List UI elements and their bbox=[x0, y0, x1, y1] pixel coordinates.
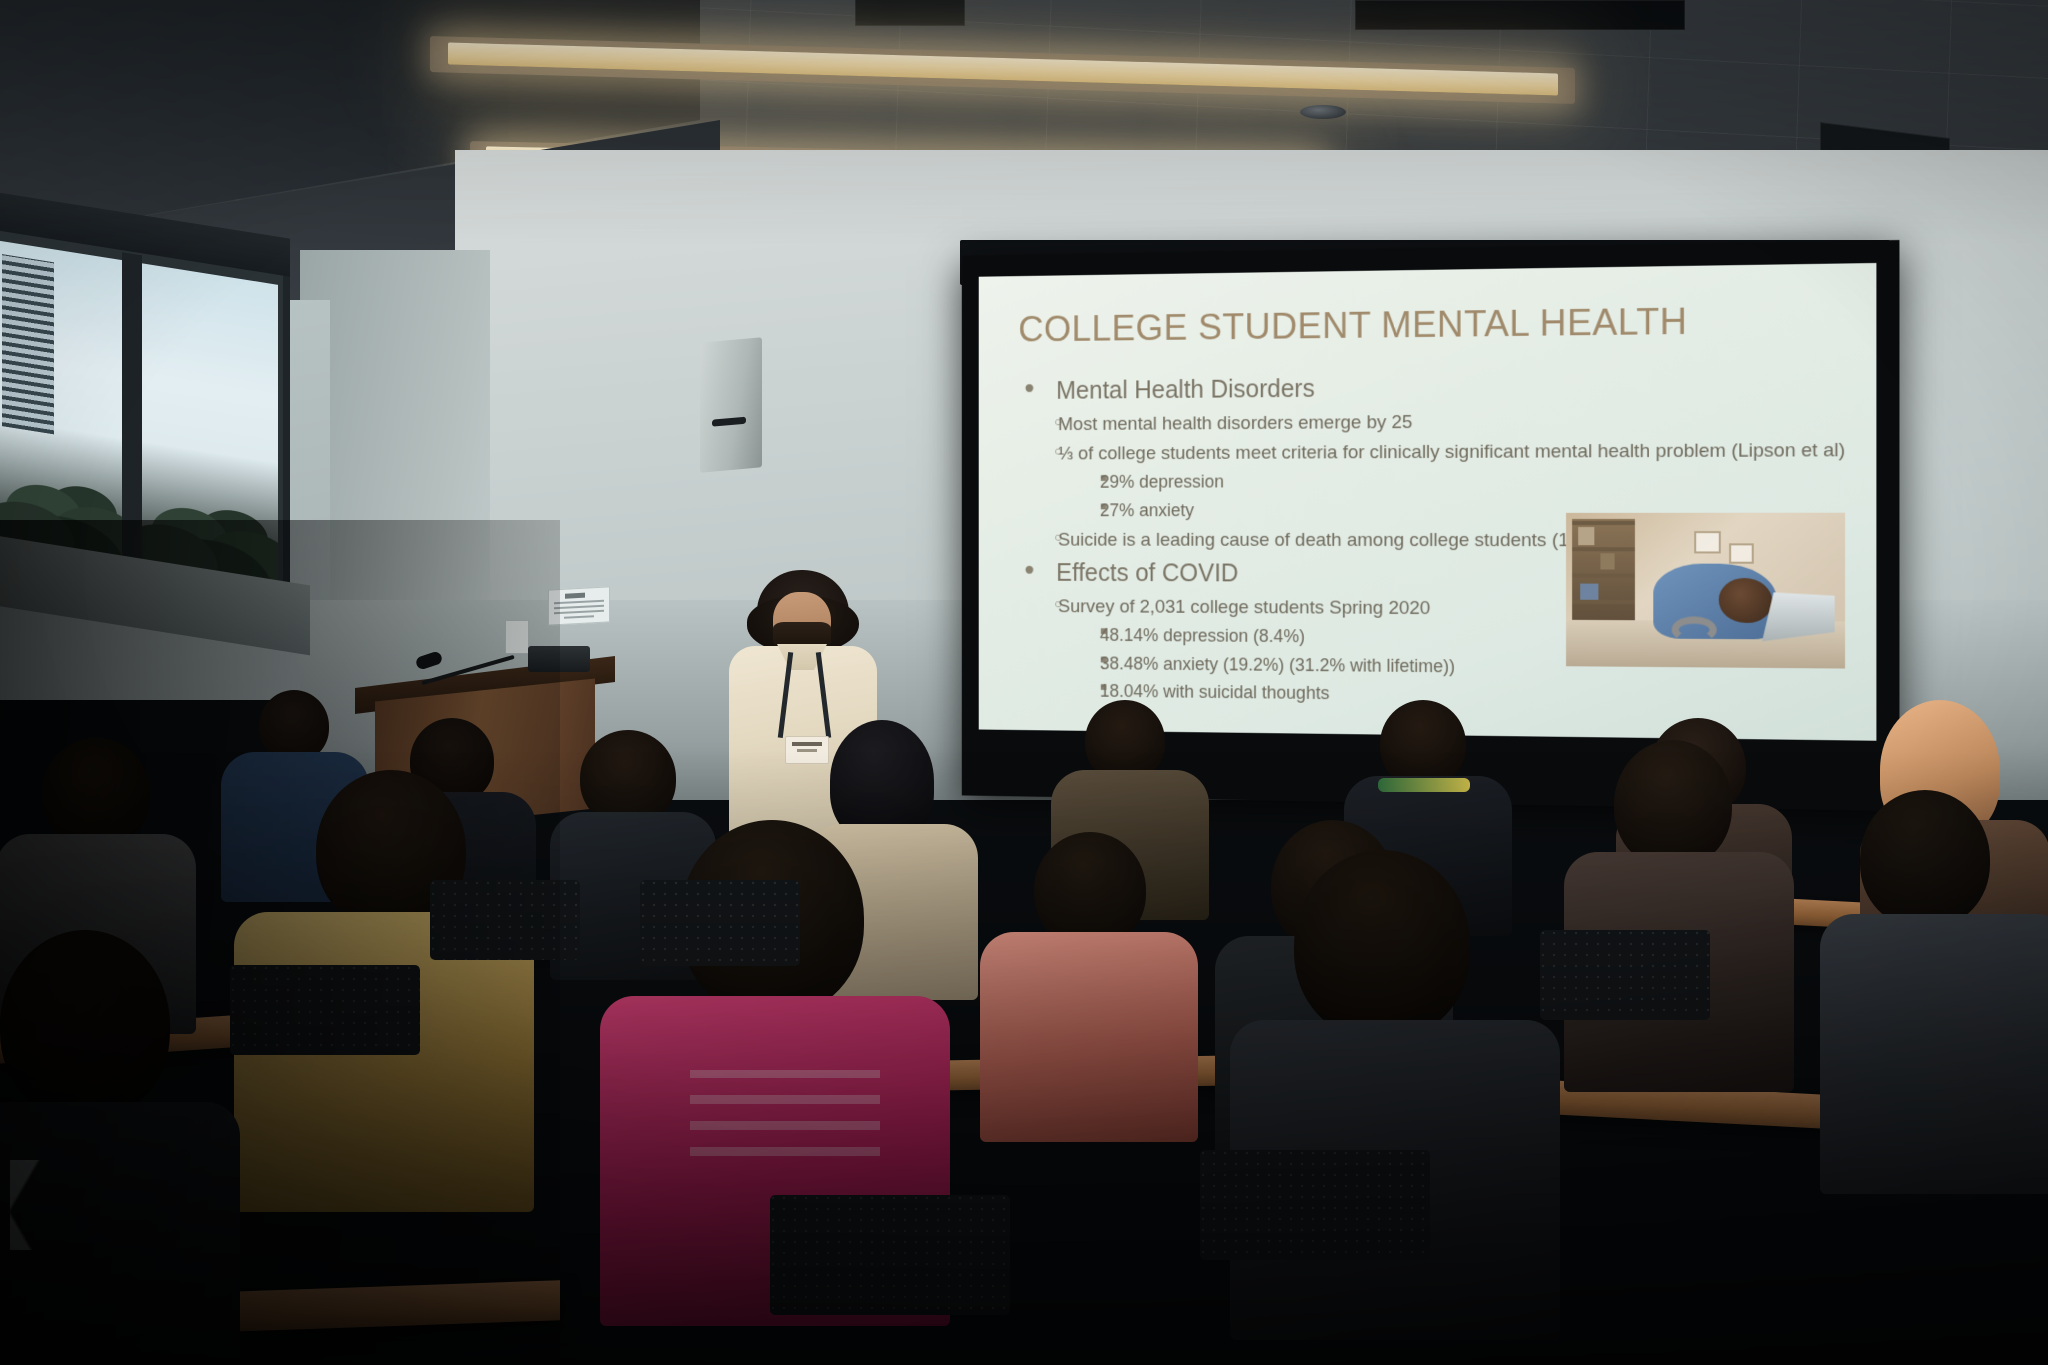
ceiling-vent-icon bbox=[1355, 0, 1685, 30]
bullet-marker-icon: ■ bbox=[1018, 471, 1100, 487]
ceiling-speaker-icon bbox=[1300, 105, 1346, 119]
picture-frame-icon bbox=[1694, 531, 1721, 553]
chair bbox=[1200, 1150, 1430, 1260]
bullet-text: Survey of 2,031 college students Spring … bbox=[1058, 594, 1430, 621]
chair bbox=[640, 880, 800, 966]
head bbox=[42, 738, 150, 848]
book-icon bbox=[1578, 527, 1594, 545]
bullet-marker-icon: ● bbox=[1018, 557, 1056, 582]
classroom-photo: COLLEGE STUDENT MENTAL HEALTH ●Mental He… bbox=[0, 0, 2048, 1365]
bullet-marker-icon: ○ bbox=[1018, 528, 1058, 546]
student-head bbox=[1719, 578, 1773, 623]
slide-bullet: ■29% depression bbox=[1018, 469, 1845, 495]
slide-photo bbox=[1566, 513, 1845, 669]
bullet-text: Most mental health disorders emerge by 2… bbox=[1058, 410, 1412, 437]
bullet-text: Effects of COVID bbox=[1056, 557, 1238, 590]
bullet-marker-icon: ■ bbox=[1018, 680, 1100, 696]
picture-frame-icon bbox=[1729, 543, 1754, 563]
head bbox=[0, 930, 170, 1120]
exterior-building bbox=[2, 254, 54, 434]
book-icon bbox=[1600, 553, 1614, 569]
chair bbox=[770, 1195, 1010, 1315]
bullet-marker-icon: ● bbox=[1018, 375, 1056, 400]
slide-bullet: ●Mental Health Disorders bbox=[1018, 368, 1845, 408]
window-pane bbox=[0, 241, 122, 590]
wall-sign bbox=[548, 586, 610, 625]
slide-bullet: ○Most mental health disorders emerge by … bbox=[1018, 407, 1845, 437]
shirt-graphic bbox=[690, 1070, 880, 1156]
bullet-text: 48.14% depression (8.4%) bbox=[1100, 624, 1305, 649]
slide-title: COLLEGE STUDENT MENTAL HEALTH bbox=[1018, 298, 1845, 350]
bag-graphic bbox=[10, 1160, 150, 1250]
bullet-marker-icon: ○ bbox=[1018, 412, 1058, 430]
lanyard-strap bbox=[1378, 778, 1470, 792]
headphones-icon bbox=[1672, 616, 1717, 643]
wall-speaker-icon bbox=[700, 337, 762, 472]
bullet-text: ⅓ of college students meet criteria for … bbox=[1058, 438, 1845, 467]
bullet-marker-icon: ■ bbox=[1018, 499, 1100, 515]
bullet-marker-icon: ○ bbox=[1018, 442, 1058, 460]
name-badge bbox=[785, 736, 829, 764]
chair bbox=[230, 965, 420, 1055]
bullet-text: Mental Health Disorders bbox=[1056, 373, 1315, 408]
torso bbox=[1820, 914, 2048, 1194]
bullet-marker-icon: ○ bbox=[1018, 594, 1058, 612]
bullet-marker-icon: ■ bbox=[1018, 623, 1100, 639]
head bbox=[1380, 700, 1466, 788]
head bbox=[1860, 790, 1990, 928]
slide-bullet: ○⅓ of college students meet criteria for… bbox=[1018, 438, 1845, 467]
head bbox=[1614, 740, 1732, 868]
chair bbox=[430, 880, 580, 960]
torso bbox=[980, 932, 1198, 1142]
av-control-box[interactable] bbox=[528, 646, 590, 672]
microphone-icon[interactable] bbox=[420, 640, 530, 692]
window-mullion bbox=[122, 252, 142, 601]
bullet-text: 27% anxiety bbox=[1100, 499, 1194, 522]
bullet-marker-icon: ■ bbox=[1018, 651, 1100, 667]
chair bbox=[1540, 930, 1710, 1020]
bullet-text: 29% depression bbox=[1100, 471, 1224, 495]
book-icon bbox=[1580, 584, 1598, 600]
head bbox=[1294, 850, 1470, 1040]
presentation-slide: COLLEGE STUDENT MENTAL HEALTH ●Mental He… bbox=[979, 263, 1877, 741]
bullet-text: 38.48% anxiety (19.2%) (31.2% with lifet… bbox=[1100, 652, 1455, 679]
head bbox=[1034, 832, 1146, 948]
ceiling-vent-icon bbox=[855, 0, 965, 26]
